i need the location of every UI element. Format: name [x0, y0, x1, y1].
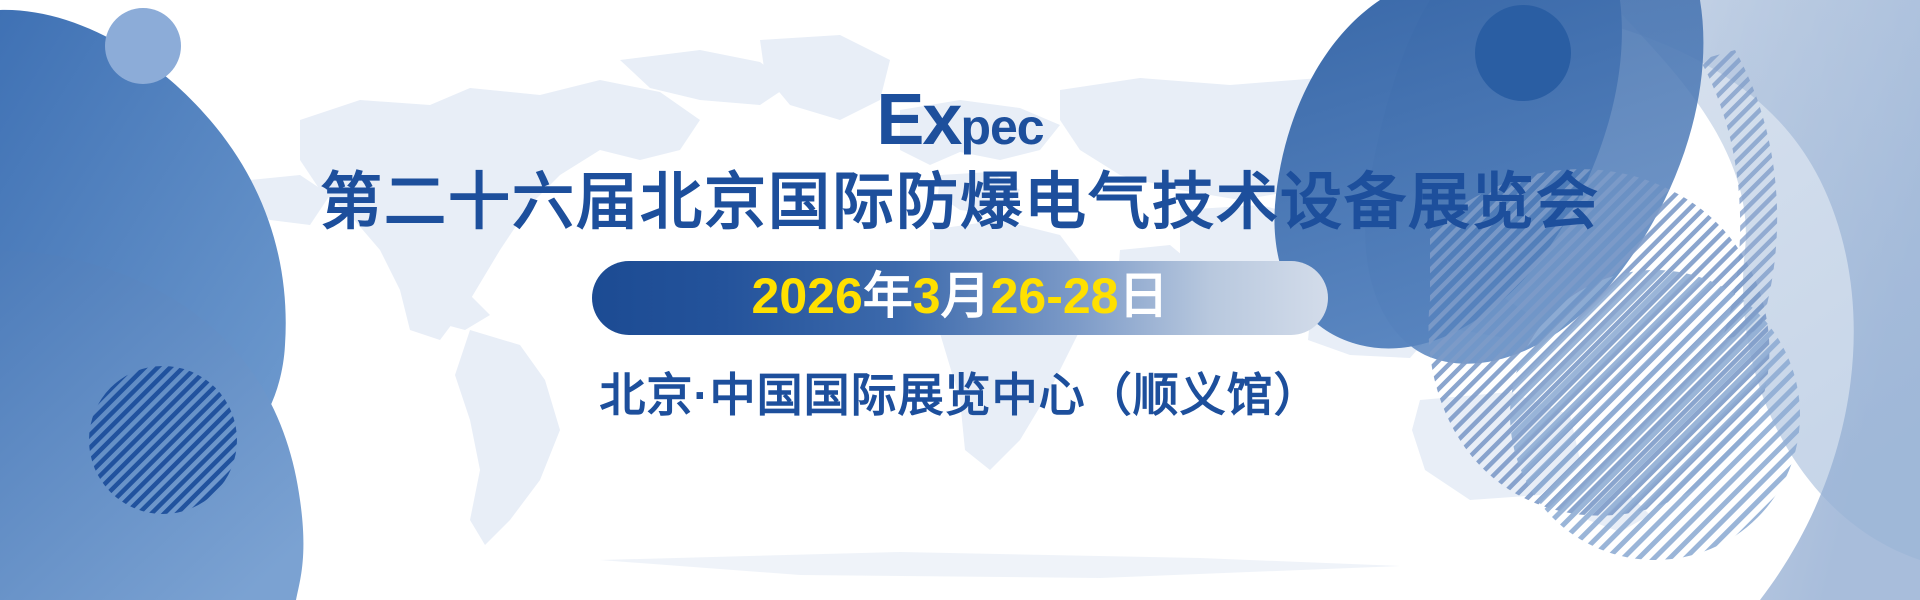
date-text: 2026年3月26-28日 — [752, 271, 1169, 325]
event-logo: Expec — [876, 84, 1043, 156]
logo-secondary: pec — [960, 99, 1043, 155]
date-month-number: 3 — [913, 268, 941, 324]
date-badge: 2026年3月26-28日 — [592, 261, 1328, 335]
event-banner: Expec 第二十六届北京国际防爆电气技术设备展览会 2026年3月26-28日… — [0, 0, 1920, 600]
venue-text: 北京·中国国际展览中心（顺义馆） — [599, 359, 1320, 425]
banner-content: Expec 第二十六届北京国际防爆电气技术设备展览会 2026年3月26-28日… — [0, 0, 1920, 600]
logo-primary: Ex — [876, 80, 960, 160]
date-day-number: 26-28 — [991, 268, 1119, 324]
date-year-number: 2026 — [752, 268, 863, 324]
date-month-label: 月 — [941, 268, 991, 324]
page-title: 第二十六届北京国际防爆电气技术设备展览会 — [320, 170, 1600, 235]
date-year-label: 年 — [863, 268, 913, 324]
date-day-label: 日 — [1118, 268, 1168, 324]
